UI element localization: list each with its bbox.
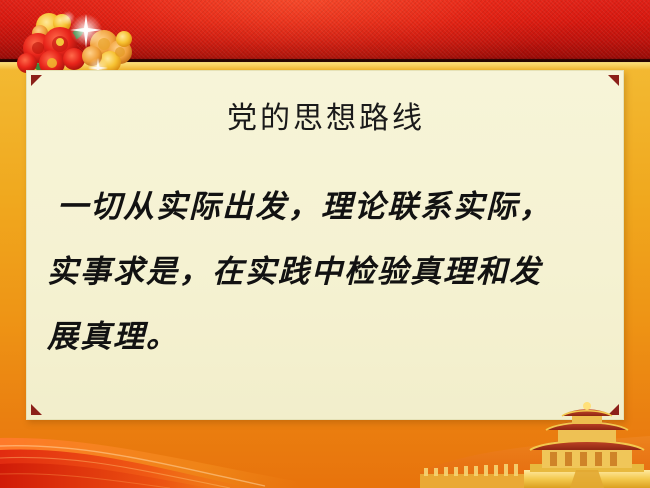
corner-marker-top-right	[608, 75, 619, 86]
temple-of-heaven-illustration	[420, 402, 650, 488]
page-title: 党的思想路线	[27, 93, 625, 137]
slide-body-text: 一切从实际出发，理论联系实际， 实事求是，在实践中检验真理和发 展真理。	[47, 175, 607, 370]
body-line-1: 一切从实际出发，理论联系实际，	[47, 175, 607, 240]
red-ribbon-waves	[0, 408, 420, 488]
body-line-2: 实事求是，在实践中检验真理和发	[47, 240, 607, 305]
corner-marker-top-left	[31, 75, 42, 86]
slide-content-panel: 党的思想路线 一切从实际出发，理论联系实际， 实事求是，在实践中检验真理和发 展…	[26, 70, 624, 420]
presentation-slide: 党的思想路线 一切从实际出发，理论联系实际， 实事求是，在实践中检验真理和发 展…	[0, 0, 650, 488]
body-line-3: 展真理。	[47, 305, 607, 370]
